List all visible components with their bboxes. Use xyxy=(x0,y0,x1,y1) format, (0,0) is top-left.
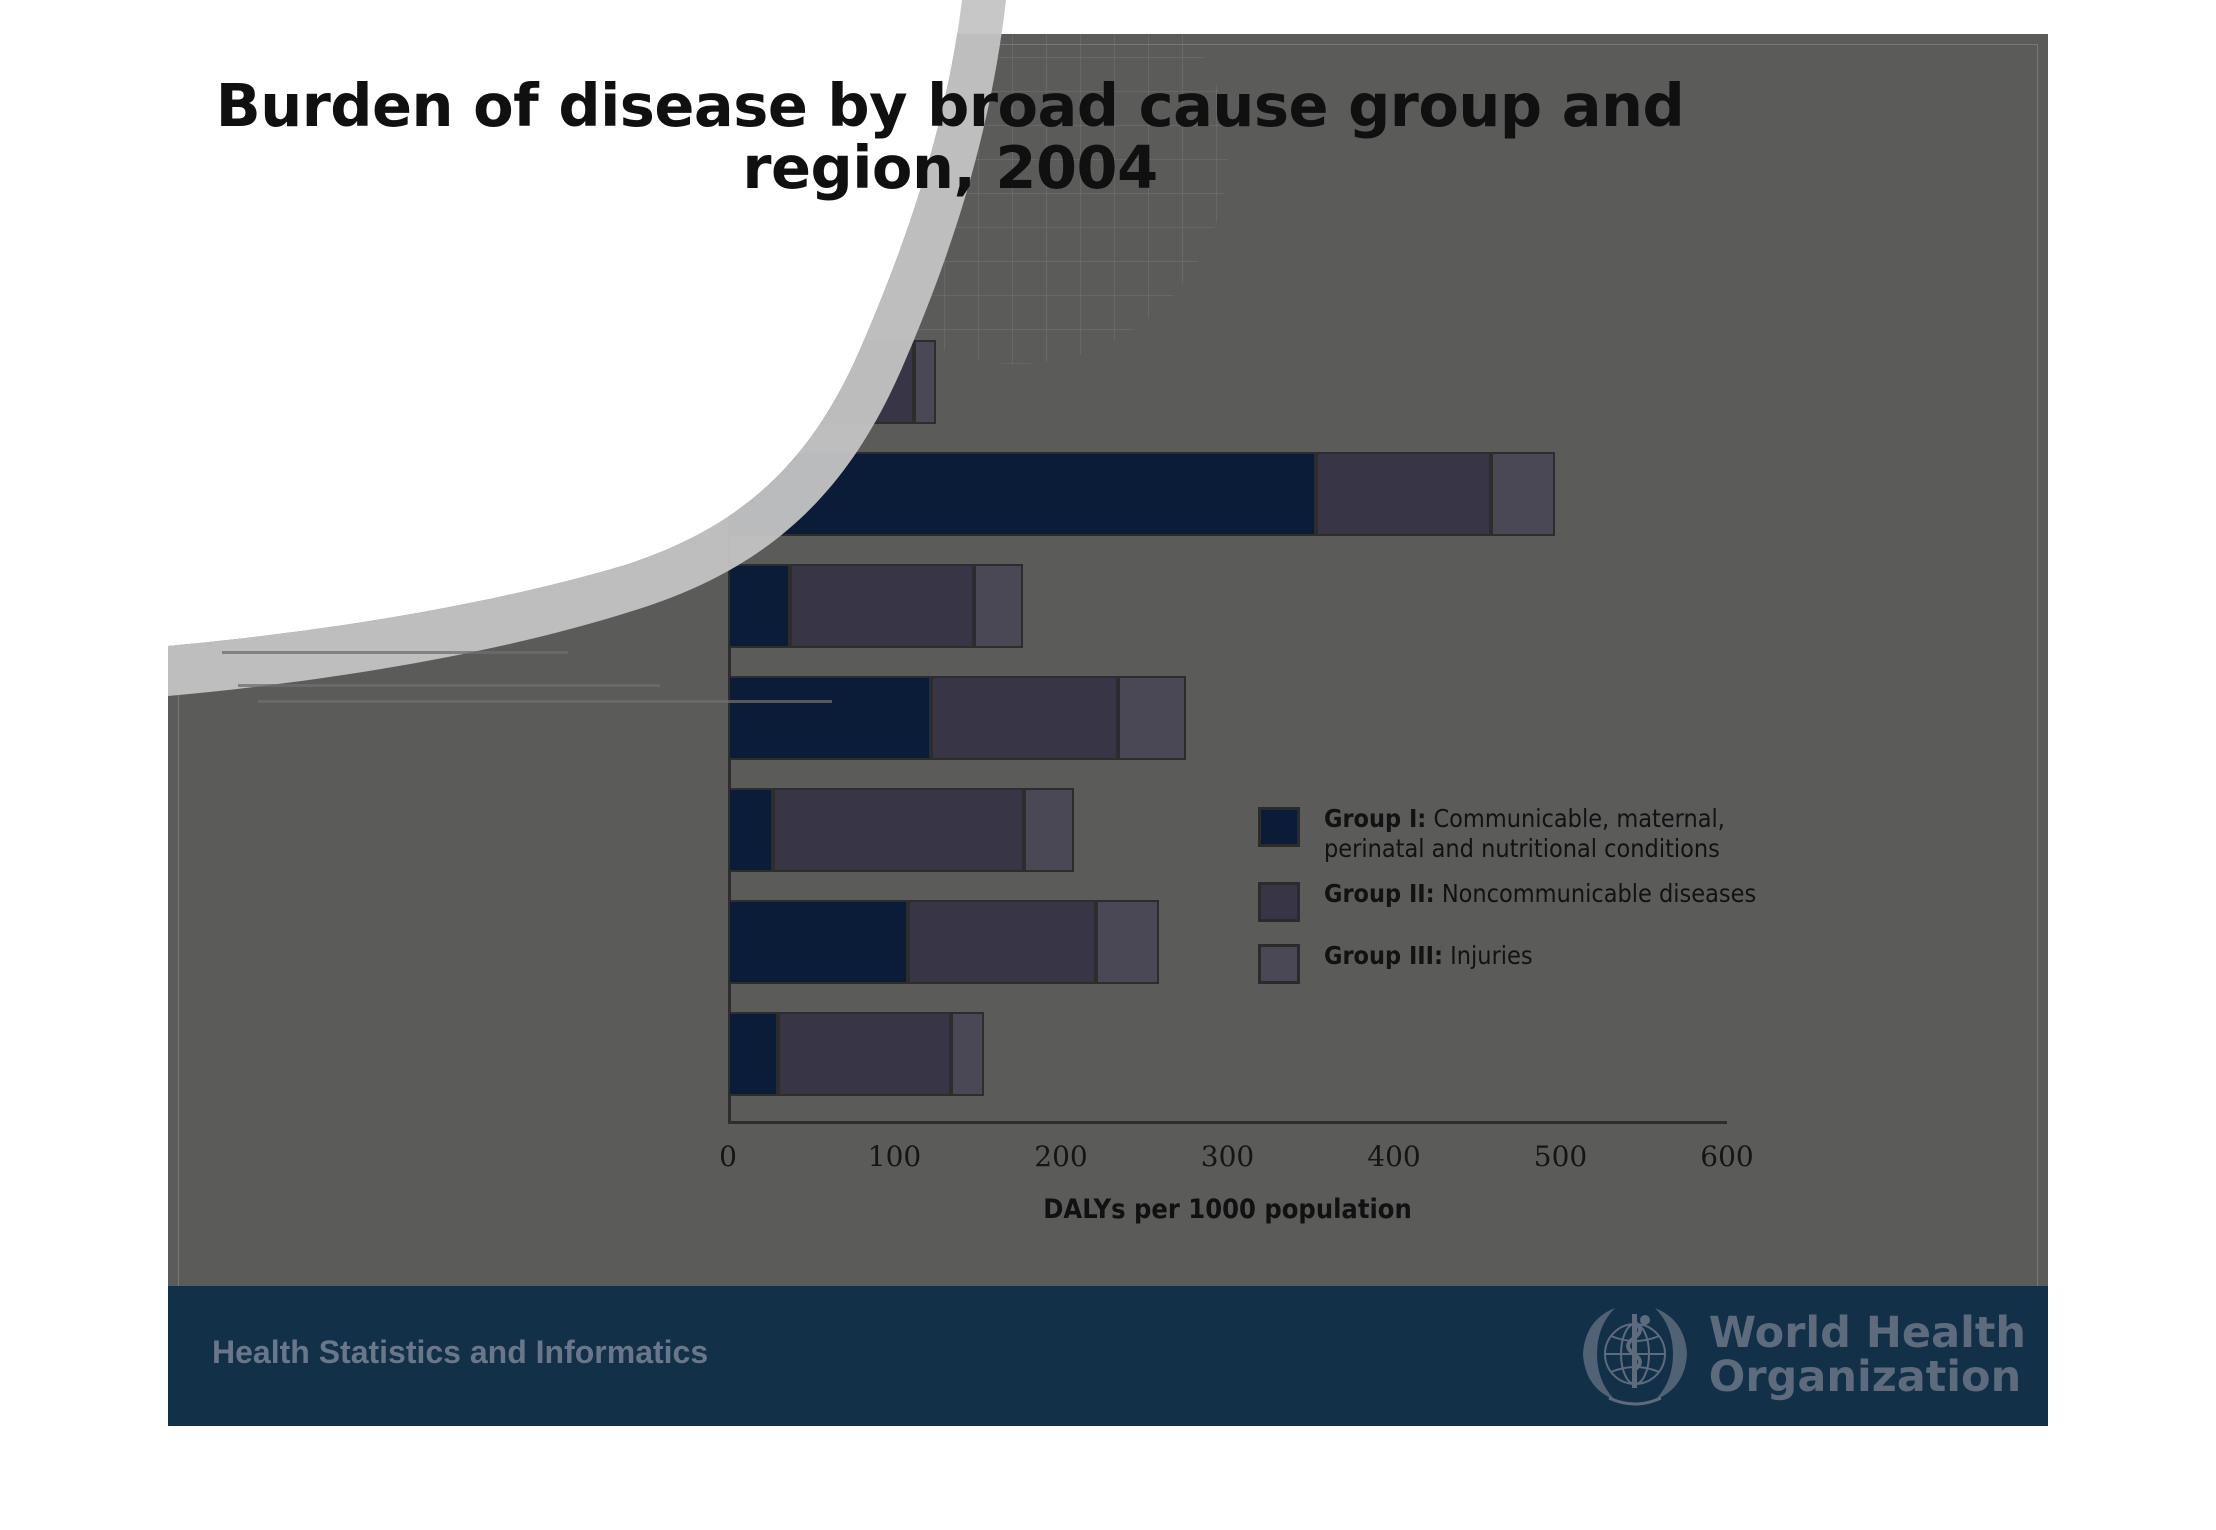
who-name-line2: Organization xyxy=(1709,1356,2026,1400)
bar-row xyxy=(728,340,1727,424)
bar-row xyxy=(728,564,1727,648)
who-emblem-icon xyxy=(1575,1300,1695,1412)
x-tick-label: 600 xyxy=(1700,1140,1753,1173)
x-tick-label: 500 xyxy=(1534,1140,1587,1173)
slide-canvas: High incomeAfricaAmericasEastern Mediter… xyxy=(168,34,2048,1426)
footer-department-label: Health Statistics and Informatics xyxy=(212,1334,708,1371)
bar-segment-3 xyxy=(1024,788,1074,872)
bar-segment-2 xyxy=(778,1012,951,1096)
x-tick-label: 100 xyxy=(868,1140,921,1173)
bar-row xyxy=(728,452,1727,536)
bar-segment-3 xyxy=(951,1012,984,1096)
legend-label: Group III: Injuries xyxy=(1324,941,1778,971)
bar-segment-1 xyxy=(728,452,1316,536)
x-axis-title: DALYs per 1000 population xyxy=(728,1194,1727,1225)
chart-plot-area: High incomeAfricaAmericasEastern Mediter… xyxy=(728,334,1727,1124)
who-logo: World Health Organization xyxy=(1575,1300,2026,1412)
bar-segment-2 xyxy=(773,788,1024,872)
bar-segment-1 xyxy=(728,676,931,760)
who-wordmark: World Health Organization xyxy=(1709,1312,2026,1400)
x-tick-label: 300 xyxy=(1201,1140,1254,1173)
bar-segment-2 xyxy=(790,564,975,648)
bar-row xyxy=(728,676,1727,760)
bar-segment-1 xyxy=(728,788,773,872)
bar-segment-2 xyxy=(908,900,1096,984)
bar-segment-2 xyxy=(931,676,1117,760)
x-tick-label: 400 xyxy=(1367,1140,1420,1173)
bar-segment-1 xyxy=(728,900,908,984)
legend-item: Group II: Noncommunicable diseases xyxy=(1258,879,1778,925)
bar-segment-3 xyxy=(1491,452,1556,536)
bar-segment-2 xyxy=(1316,452,1491,536)
legend-label: Group I: Communicable, maternal, perinat… xyxy=(1324,804,1778,863)
bar-segment-3 xyxy=(1096,900,1159,984)
group-3-swatch xyxy=(1258,944,1300,984)
bar-segment-3 xyxy=(1118,676,1186,760)
bar-segment-1 xyxy=(728,340,740,424)
bar-row xyxy=(728,1012,1727,1096)
bar-segment-3 xyxy=(914,340,936,424)
who-name-line1: World Health xyxy=(1709,1312,2026,1356)
legend-item: Group I: Communicable, maternal, perinat… xyxy=(1258,804,1778,863)
group-1-swatch xyxy=(1258,807,1300,847)
x-tick-label: 200 xyxy=(1034,1140,1087,1173)
bar-segment-1 xyxy=(728,564,790,648)
slide-footer: Health Statistics and Informatics xyxy=(168,1286,2048,1426)
bar-segment-2 xyxy=(740,340,915,424)
group-2-swatch xyxy=(1258,882,1300,922)
bar-segment-3 xyxy=(974,564,1022,648)
bar-segment-1 xyxy=(728,1012,778,1096)
legend-item: Group III: Injuries xyxy=(1258,941,1778,987)
x-axis-line xyxy=(728,1121,1727,1124)
legend-label: Group II: Noncommunicable diseases xyxy=(1324,879,1778,909)
chart-legend: Group I: Communicable, maternal, perinat… xyxy=(1258,804,1778,1003)
x-tick-label: 0 xyxy=(719,1140,737,1173)
page-title: Burden of disease by broad cause group a… xyxy=(200,75,1700,199)
